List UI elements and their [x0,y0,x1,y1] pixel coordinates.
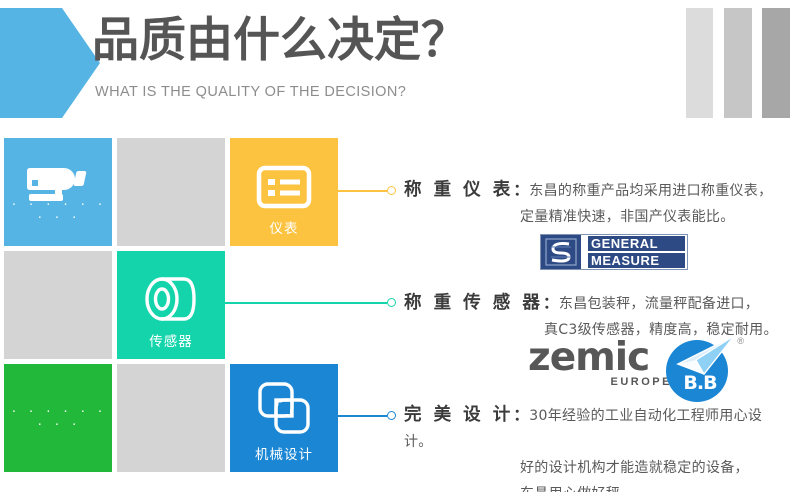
connector-instrument-line [335,190,387,192]
tile-placeholder-4 [117,364,225,472]
block-sensor-line1: 东昌包装秤，流量秤配备进口， [559,296,759,312]
block-instrument-colon: ： [513,182,529,199]
bcb-wordmark: B.B [674,372,726,394]
bcb-logo: B.B ® [660,330,746,402]
load-cell-cylinder-icon [142,271,200,327]
page-title: 品质由什么决定？ [92,16,468,65]
block-instrument-line2: 定量精准快速，非国产仪表能比。 [404,204,772,230]
page-header: 品质由什么决定？ WHAT IS THE QUALITY OF THE DECI… [0,0,790,130]
block-design-line2: 好的设计机构才能造就稳定的设备， [404,455,790,481]
registered-trademark-icon: ® [737,336,744,346]
block-sensor-heading: 称 重 传 感 器 [404,293,543,313]
header-arrow-decoration [0,8,100,118]
page-subtitle: WHAT IS THE QUALITY OF THE DECISION? [95,84,406,100]
content-block-instrument: 称 重 仪 表：东昌的称重产品均采用进口称重仪表， 定量精准快速，非国产仪表能比… [404,176,772,230]
block-instrument-line1: 东昌的称重产品均采用进口称重仪表， [529,183,772,199]
tile-camera-dots: · · · · · · · · · [4,198,112,224]
tile-green[interactable]: · · · · · · · · · [4,364,112,472]
tile-green-dots: · · · · · · · · · [4,405,112,431]
general-measure-line2: MEASURE [588,253,685,268]
header-bar-1 [686,8,713,118]
zemic-wordmark: zemic [528,338,678,377]
connector-design-line [335,415,387,417]
header-bar-3 [762,8,790,118]
block-instrument-heading: 称 重 仪 表 [404,180,513,200]
connector-sensor-dot [387,298,396,307]
tile-instrument-label: 仪表 [230,217,338,237]
general-measure-text: GENERAL MEASURE [583,235,687,269]
tile-mech-design-label: 机械设计 [230,443,338,463]
tile-sensor-label: 传感器 [117,330,225,350]
connector-design-dot [387,411,396,420]
block-design-colon: ： [513,407,529,424]
general-measure-logo: GENERAL MEASURE [540,234,688,270]
tile-sensor[interactable]: 传感器 [117,251,225,359]
block-sensor-colon: ： [543,295,559,312]
content-block-design: 完 美 设 计：30年经验的工业自动化工程师用心设计。 好的设计机构才能造就稳定… [404,401,790,492]
block-design-heading: 完 美 设 计 [404,405,513,425]
tile-empty-3 [230,251,338,359]
tile-mech-design[interactable]: 机械设计 [230,364,338,472]
feature-tile-grid: · · · · · · · · · 仪表 [4,138,342,486]
list-form-icon [256,164,312,210]
header-bar-2 [724,8,752,118]
block-sensor-row1: 称 重 传 感 器：东昌包装秤，流量秤配备进口， [404,289,778,317]
block-instrument-row1: 称 重 仪 表：东昌的称重产品均采用进口称重仪表， [404,176,772,204]
tile-placeholder-2 [4,251,112,359]
overlapping-squares-icon [255,380,313,436]
connector-sensor-line [223,302,387,304]
tile-instrument[interactable]: 仪表 [230,138,338,246]
tile-placeholder-1 [117,138,225,246]
page-root: 品质由什么决定？ WHAT IS THE QUALITY OF THE DECI… [0,0,790,492]
block-design-row1: 完 美 设 计：30年经验的工业自动化工程师用心设计。 [404,401,790,455]
block-design-line3: 东昌用心做好秤。 [404,481,790,492]
zemic-logo: zemic EUROPE [528,338,678,386]
general-measure-line1: GENERAL [588,236,685,251]
general-measure-mark-icon [541,235,583,269]
tile-camera[interactable]: · · · · · · · · · [4,138,112,246]
connector-instrument-dot [387,186,396,195]
